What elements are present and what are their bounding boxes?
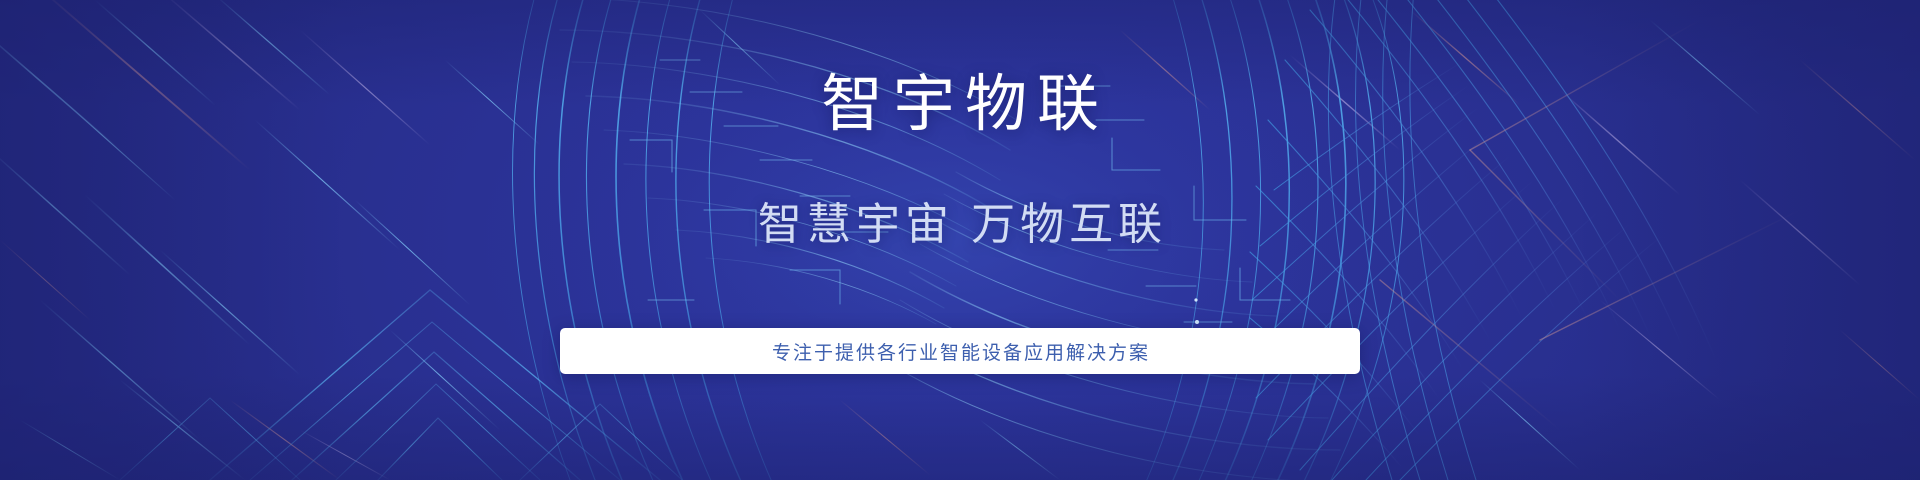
- tagline-box: 专注于提供各行业智能设备应用解决方案: [560, 328, 1360, 374]
- banner-content: 智宇物联 智慧宇宙 万物互联 专注于提供各行业智能设备应用解决方案: [0, 0, 1920, 480]
- hero-banner: 智宇物联 智慧宇宙 万物互联 专注于提供各行业智能设备应用解决方案: [0, 0, 1920, 480]
- banner-title: 智宇物联: [811, 72, 1109, 139]
- banner-subtitle: 智慧宇宙 万物互联: [753, 200, 1167, 249]
- tagline-text: 专注于提供各行业智能设备应用解决方案: [770, 338, 1150, 365]
